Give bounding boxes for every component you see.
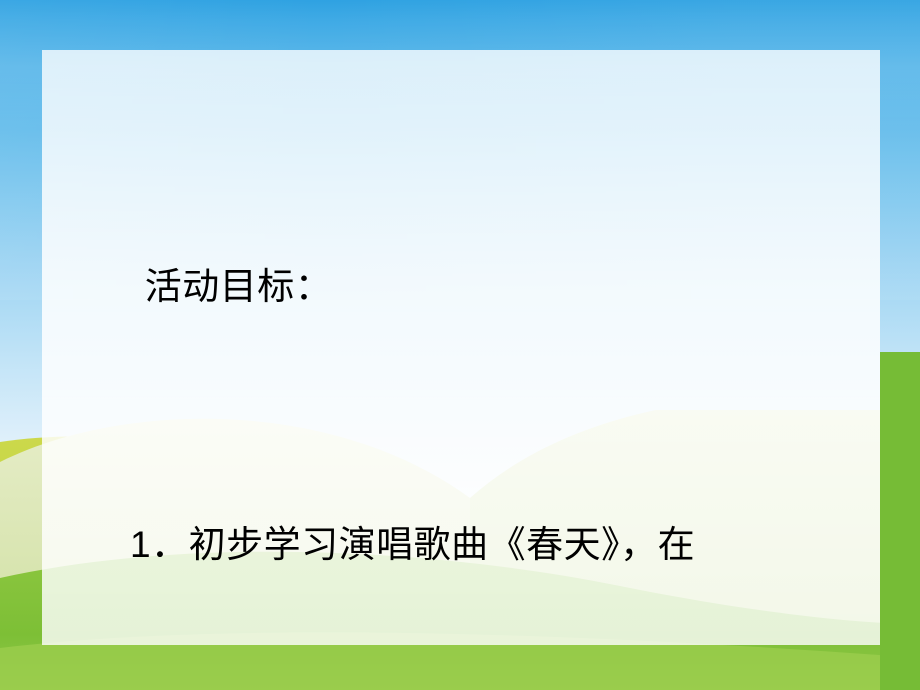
slide: 活动目标： 1．初步学习演唱歌曲《春天》，在 教师的带领下，能边唱边按照歌词内容… (0, 0, 920, 690)
text-line-objective-1: 1．初步学习演唱歌曲《春天》，在 (56, 502, 866, 588)
right-green-strip (880, 352, 920, 690)
text-line-title: 活动目标： (56, 244, 866, 330)
content-card: 活动目标： 1．初步学习演唱歌曲《春天》，在 教师的带领下，能边唱边按照歌词内容… (42, 50, 880, 645)
objectives-text-block: 活动目标： 1．初步学习演唱歌曲《春天》，在 教师的带领下，能边唱边按照歌词内容… (56, 72, 866, 690)
